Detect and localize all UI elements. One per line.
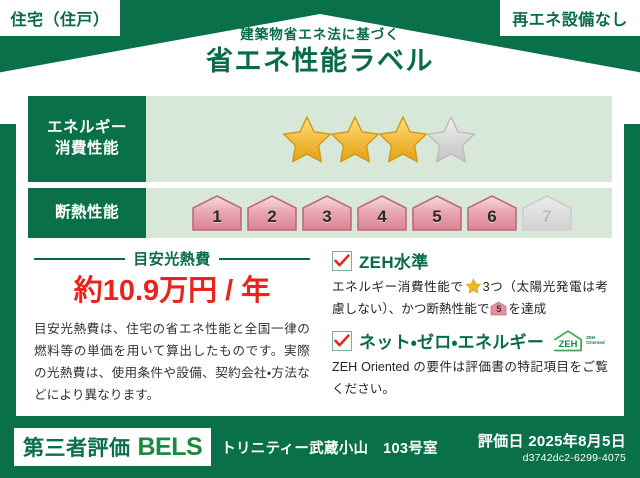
evaluation-info: 評価日 2025年8月5日 d3742dc2-6299-4075 bbox=[478, 430, 626, 464]
star-filled-icon bbox=[377, 114, 429, 164]
header-title: 省エネ性能ラベル bbox=[0, 45, 640, 79]
energy-star-rating bbox=[146, 96, 612, 182]
zeh-oriented-logo: ZEH ZEH Oriented bbox=[552, 329, 605, 353]
house-badge-value: 5 bbox=[490, 301, 507, 316]
heading-rule-left bbox=[34, 258, 125, 260]
zeh-standard-text-3: を達成 bbox=[508, 302, 546, 316]
evaluation-date: 評価日 2025年8月5日 bbox=[478, 430, 626, 451]
utility-cost-heading-label: 目安光熱費 bbox=[133, 248, 211, 269]
utility-cost-note: 目安光熱費は、住宅の省エネ性能と全国一律の燃料等の単価を用いて算出したものです。… bbox=[34, 318, 310, 406]
insulation-level-number: 2 bbox=[267, 207, 276, 232]
star-empty-icon bbox=[425, 114, 477, 164]
bels-energy-label: 住宅（住戸） 再エネ設備なし 建築物省エネ法に基づく 省エネ性能ラベル エネルギ… bbox=[0, 0, 640, 478]
star-filled-icon bbox=[281, 114, 333, 164]
net-zero-energy-checkbox[interactable] bbox=[332, 331, 352, 351]
zeh-standard-body: エネルギー消費性能で 3つ（太陽光発電は考慮しない）、かつ断熱性能で 5 を達成 bbox=[332, 277, 608, 320]
evaluation-date-label: 評価日 bbox=[478, 433, 524, 450]
bels-jp-label: 第三者評価 bbox=[23, 432, 131, 462]
insulation-level-4: 4 bbox=[356, 194, 408, 232]
insulation-performance-label-line1: 断熱性能 bbox=[55, 203, 119, 224]
evaluation-id: d3742dc2-6299-4075 bbox=[478, 452, 626, 464]
badge-house-type-label: 住宅（住戸） bbox=[10, 6, 109, 30]
net-zero-energy-title: ネット・ゼロ・エネルギー bbox=[359, 328, 544, 353]
zeh-column: ZEH水準 エネルギー消費性能で 3つ（太陽光発電は考慮しない）、かつ断熱性能で… bbox=[320, 246, 612, 410]
check-icon bbox=[334, 334, 350, 348]
utility-cost-column: 目安光熱費 約10.9万円 / 年 目安光熱費は、住宅の省エネ性能と全国一律の燃… bbox=[28, 246, 320, 410]
house-badge-icon: 5 bbox=[490, 301, 507, 316]
bels-badge: 第三者評価 BELS bbox=[14, 428, 211, 466]
insulation-level-2: 2 bbox=[246, 194, 298, 232]
footer: 第三者評価 BELS トリニティー武蔵小山 103号室 評価日 2025年8月5… bbox=[0, 416, 640, 478]
zeh-standard-block: ZEH水準 エネルギー消費性能で 3つ（太陽光発電は考慮しない）、かつ断熱性能で… bbox=[332, 248, 608, 320]
utility-cost-heading: 目安光熱費 bbox=[34, 248, 310, 269]
badge-renewable-label: 再エネ設備なし bbox=[512, 6, 628, 30]
insulation-house-scale: 1 2 3 bbox=[185, 194, 573, 232]
check-icon bbox=[334, 254, 350, 268]
insulation-level-number: 5 bbox=[432, 207, 441, 232]
heading-rule-right bbox=[219, 258, 310, 260]
row-insulation-performance: 断熱性能 1 2 bbox=[28, 188, 612, 238]
insulation-level-number: 7 bbox=[542, 207, 551, 232]
insulation-level-number: 1 bbox=[212, 207, 221, 232]
main-card: エネルギー 消費性能 断熱性能 bbox=[16, 86, 624, 416]
insulation-level-6: 6 bbox=[466, 194, 518, 232]
zeh-standard-title: ZEH水準 bbox=[359, 248, 429, 273]
insulation-performance-label: 断熱性能 bbox=[28, 188, 146, 238]
row-energy-performance: エネルギー 消費性能 bbox=[28, 96, 612, 182]
property-name: トリニティー武蔵小山 103号室 bbox=[221, 437, 438, 458]
insulation-level-number: 6 bbox=[487, 207, 496, 232]
lower-section: 目安光熱費 約10.9万円 / 年 目安光熱費は、住宅の省エネ性能と全国一律の燃… bbox=[28, 246, 612, 410]
insulation-level-7: 7 bbox=[521, 194, 573, 232]
net-zero-energy-body: ZEH Oriented の要件は評価書の特記項目をご覧ください。 bbox=[332, 357, 608, 400]
svg-text:ZEH: ZEH bbox=[559, 339, 578, 350]
energy-performance-label: エネルギー 消費性能 bbox=[28, 96, 146, 182]
badge-house-type: 住宅（住戸） bbox=[0, 0, 120, 36]
badge-renewable-equipment: 再エネ設備なし bbox=[500, 0, 640, 36]
bels-en-label: BELS bbox=[138, 433, 203, 462]
zeh-logo-sub2: Oriented bbox=[586, 341, 605, 346]
insulation-level-number: 4 bbox=[377, 207, 386, 232]
utility-cost-amount: 約10.9万円 / 年 bbox=[34, 276, 310, 308]
zeh-standard-text-1: エネルギー消費性能で bbox=[332, 280, 464, 294]
energy-performance-label-line2: 消費性能 bbox=[55, 139, 119, 160]
zeh-standard-checkbox[interactable] bbox=[332, 251, 352, 271]
zeh-house-logo-icon: ZEH bbox=[552, 329, 584, 353]
insulation-level-3: 3 bbox=[301, 194, 353, 232]
insulation-level-number: 3 bbox=[322, 207, 331, 232]
energy-performance-label-line1: エネルギー bbox=[47, 118, 127, 139]
insulation-level-1: 1 bbox=[191, 194, 243, 232]
evaluation-date-value: 2025年8月5日 bbox=[528, 433, 626, 450]
star-filled-icon bbox=[329, 114, 381, 164]
star-icon bbox=[465, 278, 482, 294]
insulation-level-5: 5 bbox=[411, 194, 463, 232]
net-zero-energy-block: ネット・ゼロ・エネルギー ZEH ZEH Oriented bbox=[332, 328, 608, 400]
